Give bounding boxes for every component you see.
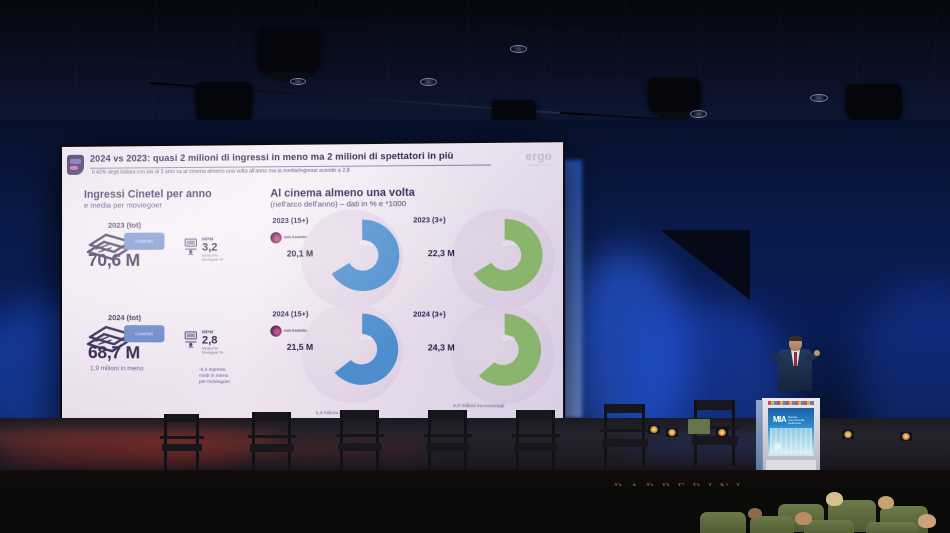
donut-value-2: 21,5 M — [287, 342, 313, 352]
moviegoer-icon — [185, 239, 197, 255]
ergo-logo: ergo RESEARCH — [525, 152, 552, 168]
sala-salotto-logo: sala &salotto — [270, 232, 306, 243]
left-column: Ingressi Cinetel per anno e media per mo… — [84, 188, 279, 211]
moviegoer-icon — [185, 331, 197, 347]
donut-label-0: 2023 (15+) — [272, 216, 308, 225]
donut-percent-2: 41% — [359, 335, 372, 342]
mia-logo-text: MIA — [773, 415, 786, 424]
donut-percent-3: 42% — [501, 335, 515, 342]
director-chair — [512, 410, 562, 472]
mia-artwork — [770, 428, 812, 454]
downlight — [510, 45, 527, 53]
donut-label-2: 2024 (15+) — [272, 309, 308, 318]
audience-head — [918, 514, 936, 528]
director-chair — [424, 410, 474, 472]
mpm-caption-2024: Media Per Moviegoer 3+ — [202, 347, 235, 356]
cinetel-badge-label: cinetel — [135, 331, 153, 337]
ceiling-light-fixture — [648, 78, 700, 112]
cinema-seat — [866, 522, 918, 533]
cinetel-badge-2023: cinetel — [124, 233, 164, 250]
speaker-person — [772, 336, 818, 402]
ingressi-value-2024: 68,7 M — [88, 342, 140, 363]
cinema-seat — [700, 512, 746, 533]
director-chair — [600, 404, 652, 470]
sala-salotto-label: sala &salotto — [284, 236, 307, 240]
mpm-note-2024: -0,4 ingressi medi in meno per moviegoer — [199, 368, 236, 386]
ergo-logo-subtext: RESEARCH — [525, 163, 552, 167]
donut-chart-0 — [318, 211, 407, 304]
audience-area — [0, 486, 950, 533]
auditorium-photo: 2024 vs 2023: quasi 2 milioni di ingress… — [0, 0, 950, 533]
year-label-2024-tot: 2024 (tot) — [108, 313, 141, 322]
slide-content: 2024 vs 2023: quasi 2 milioni di ingress… — [62, 142, 563, 438]
cinema-seat — [804, 520, 854, 533]
donut-value-3: 24,3 M — [428, 342, 455, 352]
podium-accent-bar — [768, 401, 814, 405]
speaker-hair — [789, 336, 802, 341]
audience-head — [878, 496, 894, 509]
ingressi-value-2023: 70,6 M — [88, 250, 140, 271]
downlight — [690, 110, 707, 118]
speaker-hand-right — [814, 350, 820, 356]
right-column: Al cinema almeno una volta (nell'arco de… — [270, 186, 561, 210]
sala-salotto-label: sala &salotto — [284, 329, 307, 333]
director-chair — [248, 412, 298, 472]
projection-screen: 2024 vs 2023: quasi 2 milioni di ingress… — [60, 140, 565, 440]
donut-chart-2 — [318, 305, 407, 398]
mpm-value-2023: 3,2 — [202, 241, 235, 253]
ceiling-light-fixture — [258, 28, 320, 72]
audience-head — [826, 492, 843, 506]
footnote-incrementali-1: 2,0 milioni incrementali — [453, 404, 504, 410]
stage-equipment-case — [688, 419, 710, 434]
cinetel-badge-label: cinetel — [135, 238, 153, 244]
downlight — [810, 94, 828, 102]
left-heading: Ingressi Cinetel per anno — [84, 188, 279, 201]
mpm-value-2024: 2,8 — [202, 334, 235, 346]
slide-title: 2024 vs 2023: quasi 2 milioni di ingress… — [90, 150, 496, 165]
right-subheading: (nell'arco dell'anno) – dati in % e *100… — [270, 198, 561, 210]
donut-value-1: 22,3 M — [428, 248, 455, 258]
mia-logo-subtext: Mercato Internazionale Audiovisivo — [788, 416, 814, 425]
podium-signage: MIA Mercato Internazionale Audiovisivo — [768, 408, 814, 456]
cinetel-badge-2024: cinetel — [124, 325, 164, 342]
donut-chart-1 — [459, 210, 550, 304]
wall-shadow — [660, 230, 750, 300]
audience-head — [795, 512, 812, 525]
director-chair — [336, 410, 386, 472]
sala-salotto-logo: sala &salotto — [270, 325, 306, 336]
left-subheading: e media per moviegoer — [84, 200, 279, 211]
ceiling-light-fixture — [846, 84, 902, 120]
downlight — [420, 78, 437, 86]
donut-label-3: 2024 (3+) — [413, 309, 445, 318]
stage-light — [842, 430, 854, 439]
sala-salotto-mark-icon — [270, 232, 281, 243]
director-chair — [160, 414, 206, 472]
ergo-logo-text: ergo — [525, 152, 552, 164]
donut-label-1: 2023 (3+) — [413, 215, 445, 224]
stage-light — [900, 432, 912, 441]
stage-light — [716, 428, 728, 437]
speaker-tie — [794, 352, 797, 366]
mpm-caption-2023: Media Per Moviegoer 3+ — [202, 254, 235, 263]
stage-light — [648, 425, 660, 434]
audience-head — [748, 508, 762, 519]
ingressi-delta-2024: 1,9 milioni in meno — [90, 365, 144, 372]
donut-percent-1: 39% — [501, 241, 515, 248]
ceiling-light-fixture — [196, 82, 252, 122]
floor-light-streak — [0, 452, 250, 464]
donut-value-0: 20,1 M — [287, 248, 313, 258]
year-label-2023-tot: 2023 (tot) — [108, 221, 141, 230]
donut-chart-3 — [459, 305, 550, 399]
sala-salotto-mark-icon — [270, 325, 281, 336]
downlight — [290, 78, 306, 85]
slide-brand-mark-icon — [67, 155, 84, 175]
stage-light — [666, 428, 678, 437]
donut-percent-0: 39% — [359, 241, 372, 248]
